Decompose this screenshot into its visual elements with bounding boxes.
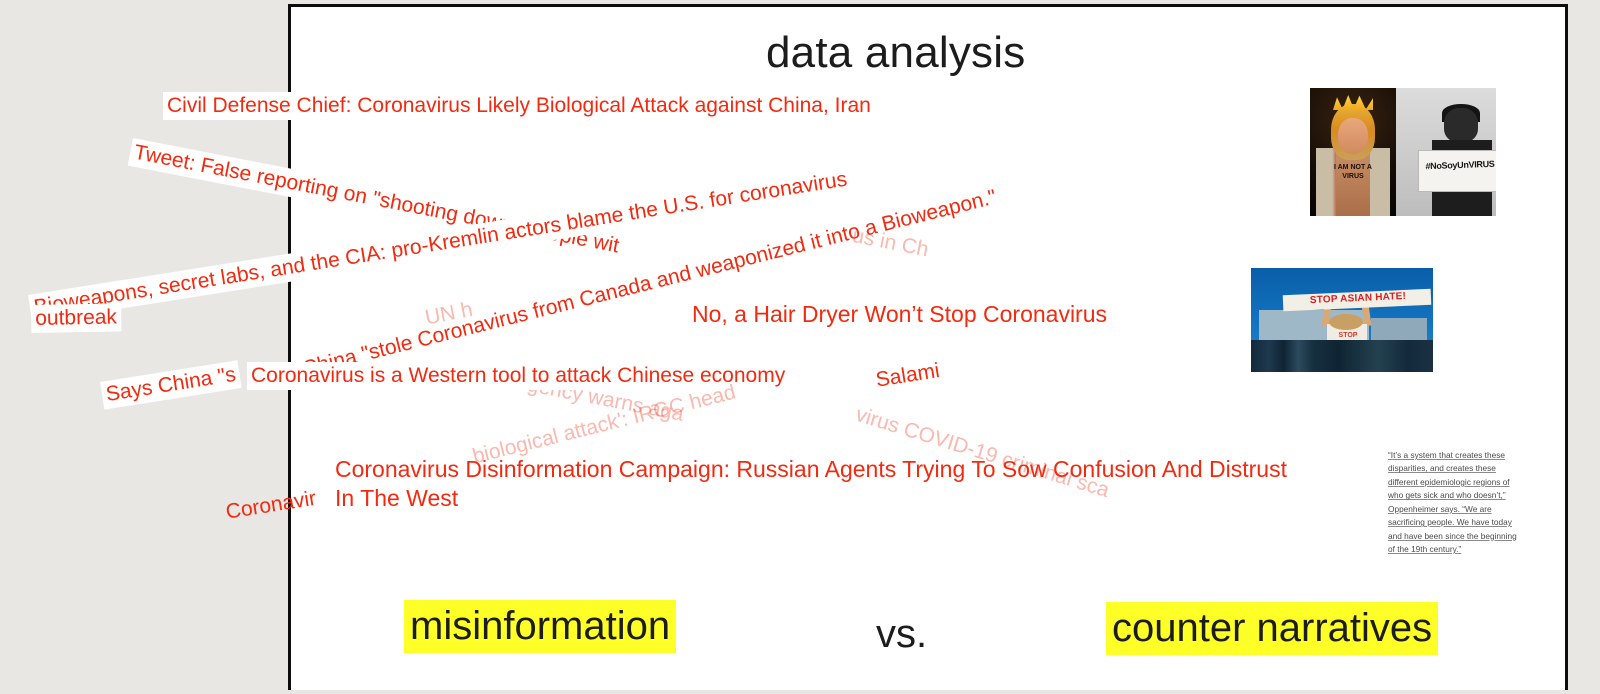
- headline-says-china-prefix: Says China "s: [100, 360, 242, 410]
- face-shape: [1444, 108, 1478, 142]
- quote-line: who gets sick and who doesn’t,”: [1388, 490, 1506, 500]
- quote-line: and have been since the beginning: [1388, 531, 1517, 541]
- caption-misinformation: misinformation: [404, 600, 676, 653]
- slide-stage: data analysis Civil Defense Chief: Coron…: [0, 0, 1600, 694]
- caption-vs: vs.: [876, 612, 927, 657]
- headline-civil-defense: Civil Defense Chief: Coronavirus Likely …: [163, 92, 875, 120]
- quote-line: Oppenheimer says. “We are: [1388, 504, 1492, 514]
- quote-line: different epidemiologic regions of: [1388, 477, 1510, 487]
- crown-icon: [1333, 94, 1373, 110]
- headline-bioweapons-line2: outbreak: [31, 303, 121, 333]
- quote-line: of the 19th century.”: [1388, 544, 1461, 554]
- oppenheimer-quote-block: “It’s a system that creates these dispar…: [1388, 449, 1538, 557]
- caption-counter-narratives: counter narratives: [1106, 602, 1438, 655]
- crowd-shape: [1251, 340, 1433, 372]
- quote-line: sacrificing people. We have today: [1388, 517, 1512, 527]
- headline-hair-dryer: No, a Hair Dryer Won’t Stop Coronavirus: [692, 300, 1107, 329]
- i-am-not-a-virus-runway-photo: I AM NOT A VIRUS: [1310, 88, 1396, 216]
- headline-disinformation-campaign: Coronavirus Disinformation Campaign: Rus…: [335, 455, 1295, 513]
- quote-line: disparities, and creates these: [1388, 463, 1496, 473]
- headline-coronavir-fragment: Coronavir: [224, 486, 318, 526]
- quote-line: “It’s a system that creates these: [1388, 450, 1505, 460]
- headline-salami: Salami: [874, 358, 942, 394]
- stop-asian-hate-protest-photo: STOP ASIAN HATE STOP ASIAN HATE!: [1251, 268, 1433, 372]
- face-shape: [1338, 118, 1368, 154]
- body-text: I AM NOT A VIRUS: [1333, 164, 1373, 182]
- hat-shape: [1329, 314, 1363, 330]
- no-soy-un-virus-photo: #NoSoyUnVIRUS: [1396, 88, 1496, 216]
